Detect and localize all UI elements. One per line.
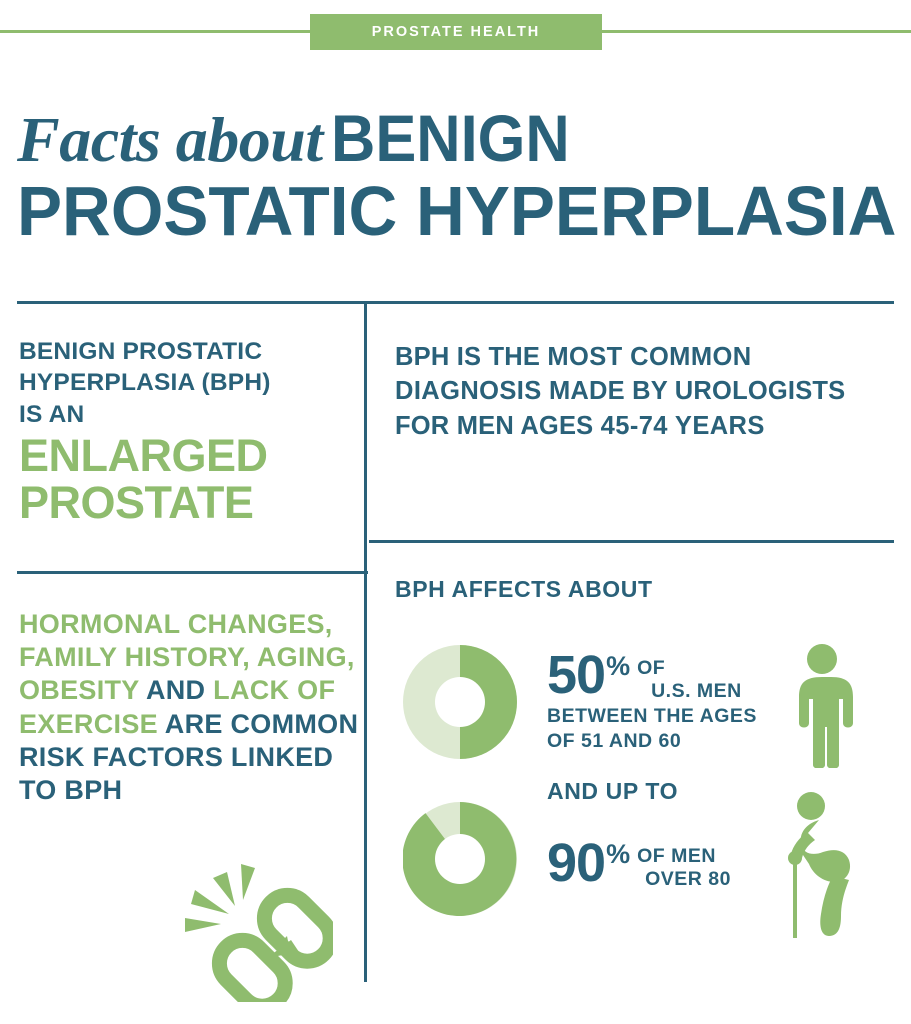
diagnosis-statement: BPH IS THE MOST COMMON DIAGNOSIS MADE BY…: [395, 340, 895, 443]
risk-factor-1: HORMONAL CHANGES,: [19, 609, 333, 639]
stat-90-value: 90: [547, 839, 605, 888]
chain-link-icon: [183, 862, 333, 1002]
risk-connector-1: AND: [146, 675, 205, 705]
definition-lead-line-3: IS AN: [19, 399, 349, 430]
diagnosis-panel: BPH IS THE MOST COMMON DIAGNOSIS MADE BY…: [395, 340, 895, 443]
risk-factor-2: FAMILY HISTORY,: [19, 642, 250, 672]
stat-90-side-line-2: OVER 80: [637, 868, 731, 891]
definition-panel: BENIGN PROSTATIC HYPERPLASIA (BPH) IS AN…: [19, 336, 349, 527]
stat-50-side-text: OF U.S. MEN: [637, 657, 742, 703]
prevalence-panel: BPH AFFECTS ABOUT 50 % OF U.S. MEN: [395, 576, 905, 953]
stat-90-percent-symbol: %: [606, 841, 630, 868]
definition-lead-line-1: BENIGN PROSTATIC: [19, 336, 349, 367]
definition-emphasis-line-1: ENLARGED: [19, 432, 349, 479]
elderly-man-with-cane-icon: [783, 790, 869, 947]
stat-90-value-line: 90 % OF MEN OVER 80: [547, 839, 787, 891]
right-middle-rule: [369, 540, 894, 543]
standing-man-icon: [787, 643, 857, 773]
stat-row-90: AND UP TO 90 % OF MEN OVER 80: [395, 778, 905, 953]
infographic-page: PROSTATE HEALTH Facts aboutBENIGN PROSTA…: [0, 0, 911, 1024]
diagnosis-seg-3: DIAGNOSIS: [395, 377, 542, 405]
stat-copy-50: 50 % OF U.S. MEN BETWEEN THE AGES OF 51 …: [547, 651, 777, 754]
left-middle-rule: [17, 571, 368, 574]
page-title: Facts aboutBENIGN PROSTATIC HYPERPLASIA: [17, 106, 907, 245]
stat-50-side-line-1: OF: [637, 657, 742, 680]
title-line-2: PROSTATIC HYPERPLASIA: [17, 178, 896, 245]
diagnosis-seg-1: BPH IS THE: [395, 343, 547, 371]
definition-lead: BENIGN PROSTATIC HYPERPLASIA (BPH) IS AN: [19, 336, 349, 430]
eyebrow-badge: PROSTATE HEALTH: [310, 14, 602, 50]
stat-50-sub-line-2: OF 51 AND 60: [547, 730, 777, 753]
donut-chart-90: [403, 802, 517, 921]
diagnosis-seg-2: MOST COMMON: [547, 343, 751, 371]
eyebrow-banner: PROSTATE HEALTH: [0, 14, 911, 50]
risk-factors-panel: HORMONAL CHANGES, FAMILY HISTORY, AGING,…: [19, 608, 359, 807]
stat-50-value-line: 50 % OF U.S. MEN: [547, 651, 777, 703]
stat-90-side-line-1: OF MEN: [637, 845, 731, 868]
stat-50-value: 50: [547, 651, 605, 700]
stat-row-50: 50 % OF U.S. MEN BETWEEN THE AGES OF 51 …: [395, 603, 905, 778]
stat-50-percent-symbol: %: [606, 653, 630, 680]
stat-50-side-line-2: U.S. MEN: [637, 680, 742, 703]
stat-connector-text: AND UP TO: [547, 778, 787, 805]
diagnosis-seg-5: 45-74 YEARS: [601, 412, 765, 440]
risk-factors-statement: HORMONAL CHANGES, FAMILY HISTORY, AGING,…: [19, 608, 359, 807]
stat-50-sub-line-1: BETWEEN THE AGES: [547, 705, 777, 728]
stat-90-side-text: OF MEN OVER 80: [637, 845, 731, 891]
stat-copy-90: AND UP TO 90 % OF MEN OVER 80: [547, 778, 787, 891]
eyebrow-label: PROSTATE HEALTH: [372, 24, 541, 40]
definition-emphasis-line-2: PROSTATE: [19, 479, 349, 526]
top-divider-rule: [17, 301, 894, 304]
title-script-part: Facts about: [17, 104, 323, 175]
definition-emphasis: ENLARGED PROSTATE: [19, 432, 349, 527]
title-bold-part: BENIGN: [331, 106, 570, 171]
title-line-1: Facts aboutBENIGN: [17, 106, 907, 172]
vertical-divider: [364, 301, 367, 982]
prevalence-heading: BPH AFFECTS ABOUT: [395, 576, 905, 603]
donut-chart-50: [403, 645, 517, 764]
definition-lead-line-2: HYPERPLASIA (BPH): [19, 367, 349, 398]
